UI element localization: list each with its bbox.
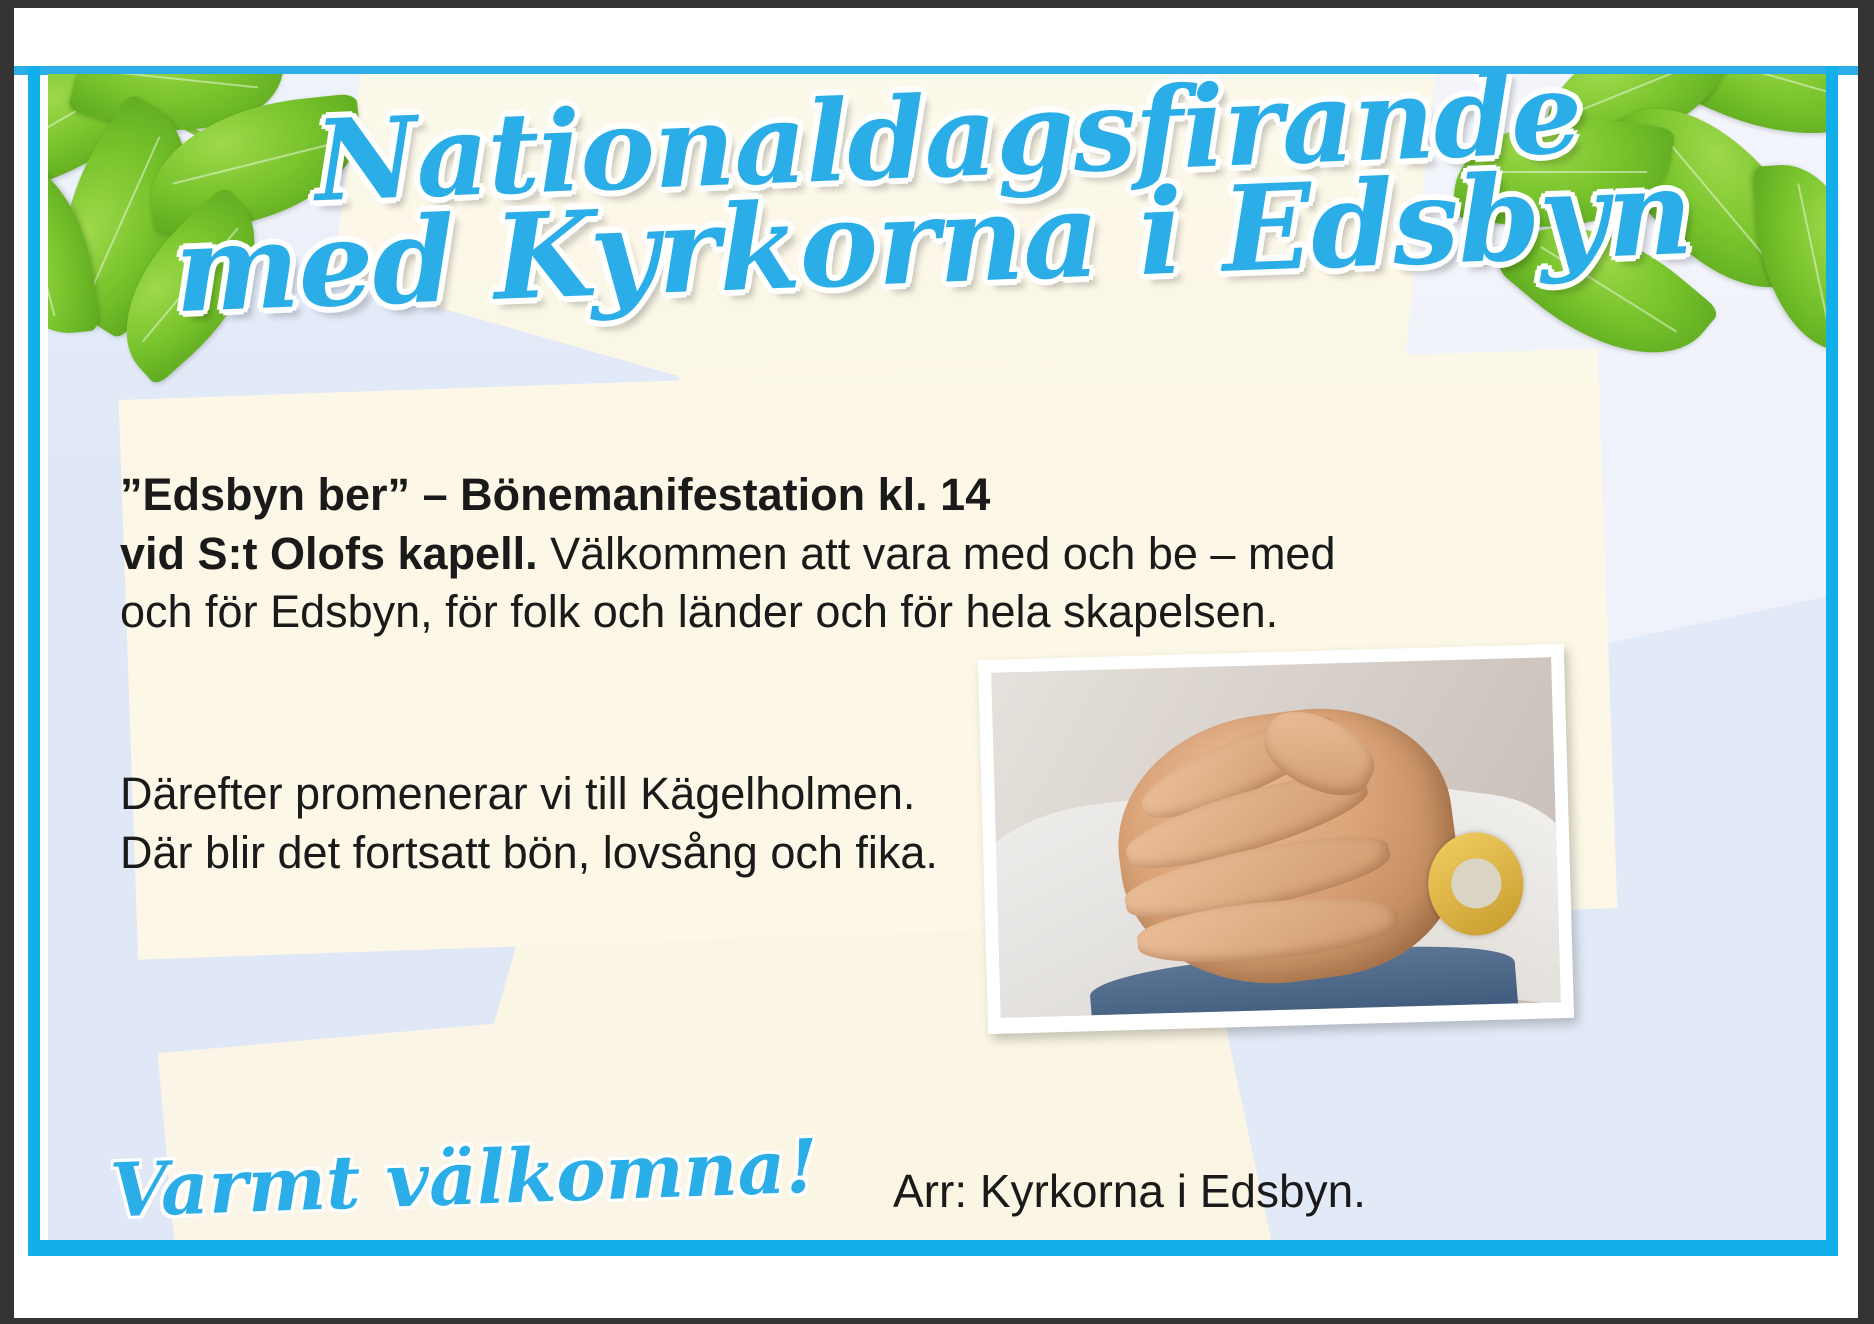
praying-hands-photo <box>978 644 1574 1034</box>
body-paragraph-1: ”Edsbyn ber” – Bönemanifestation kl. 14 … <box>120 466 1420 642</box>
frame-border-right <box>1826 66 1838 1256</box>
poster-canvas: Nationaldagsfirande med Kyrkorna i Edsby… <box>48 74 1828 1250</box>
poster-title: Nationaldagsfirande med Kyrkorna i Edsby… <box>48 84 1828 297</box>
photo-image <box>991 657 1560 1018</box>
frame-border-left <box>28 66 40 1256</box>
body-paragraph-2: Därefter promenerar vi till Kägelholmen.… <box>120 764 950 883</box>
body-bold-headline: ”Edsbyn ber” – Bönemanifestation kl. 14 <box>120 469 990 520</box>
body-bold-venue: vid S:t Olofs kapell. <box>120 528 538 579</box>
frame-border-bottom <box>28 1240 1838 1256</box>
poster-root: Nationaldagsfirande med Kyrkorna i Edsby… <box>0 0 1874 1324</box>
arranger-text: Arr: Kyrkorna i Edsbyn. <box>893 1164 1366 1218</box>
poster-paper: Nationaldagsfirande med Kyrkorna i Edsby… <box>14 8 1858 1318</box>
